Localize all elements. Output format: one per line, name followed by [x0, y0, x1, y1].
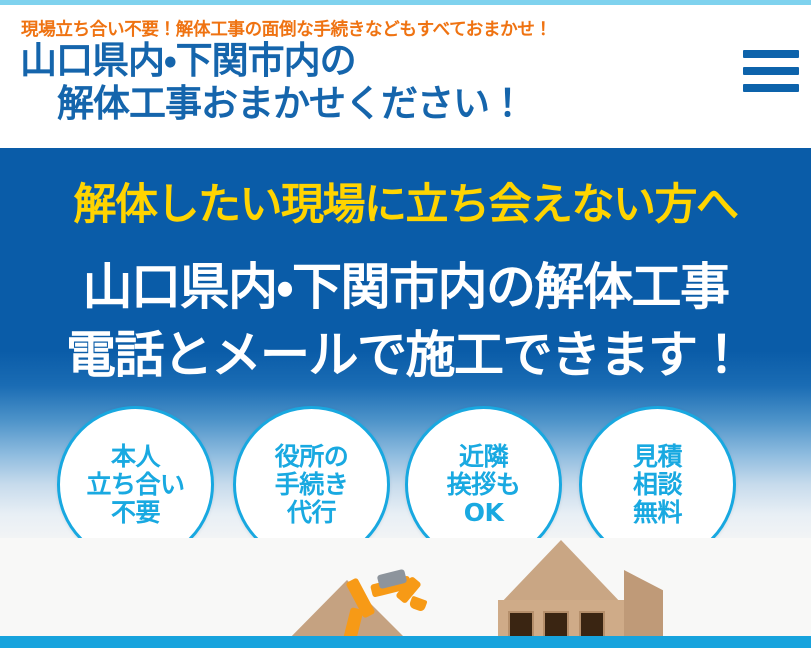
- badge-line: 不要: [111, 499, 160, 527]
- badge-line: 相談: [633, 471, 682, 499]
- bottom-accent-bar: [0, 636, 811, 648]
- badge-line: 近隣: [459, 443, 508, 471]
- large-house-icon: [498, 540, 663, 648]
- excavator-icon: [338, 553, 453, 648]
- badge-line: 立ち合い: [86, 471, 184, 499]
- site-header: 現場立ち合い不要！解体工事の面倒な手続きなどもすべておまかせ！ 山口県内・下関市…: [0, 5, 811, 148]
- badge-line: 見積: [633, 443, 682, 471]
- badge-line: 代行: [287, 499, 336, 527]
- hamburger-bar-middle: [743, 67, 799, 75]
- excavator-bucket: [408, 596, 427, 613]
- hero-lead-text: 解体したい現場に立ち会えない方へ: [74, 184, 738, 227]
- header-tagline: 現場立ち合い不要！解体工事の面倒な手続きなどもすべておまかせ！: [21, 16, 552, 41]
- hamburger-menu-icon[interactable]: [741, 46, 797, 96]
- header-title-line-2: 解体工事おまかせください！: [57, 85, 525, 122]
- demolition-illustration: [0, 538, 811, 648]
- large-house-roof: [498, 540, 624, 606]
- badge-line: 無料: [633, 499, 682, 527]
- landing-page: 現場立ち合い不要！解体工事の面倒な手続きなどもすべておまかせ！ 山口県内・下関市…: [0, 0, 811, 648]
- badge-line: 役所の: [275, 443, 349, 471]
- hero-headline-line-1: 山口県内・下関市内の解体工事: [83, 262, 729, 312]
- badge-line: 本人: [111, 443, 160, 471]
- badge-line: 手続き: [275, 471, 349, 499]
- hero-headline-line-2: 電話とメールで施工できます！: [66, 330, 745, 380]
- badge-line: OK: [464, 499, 504, 527]
- header-title-line-1: 山口県内・下関市内の: [20, 42, 356, 79]
- hamburger-bar-bottom: [743, 84, 799, 92]
- badge-line: 挨拶も: [447, 471, 521, 499]
- hamburger-bar-top: [743, 50, 799, 58]
